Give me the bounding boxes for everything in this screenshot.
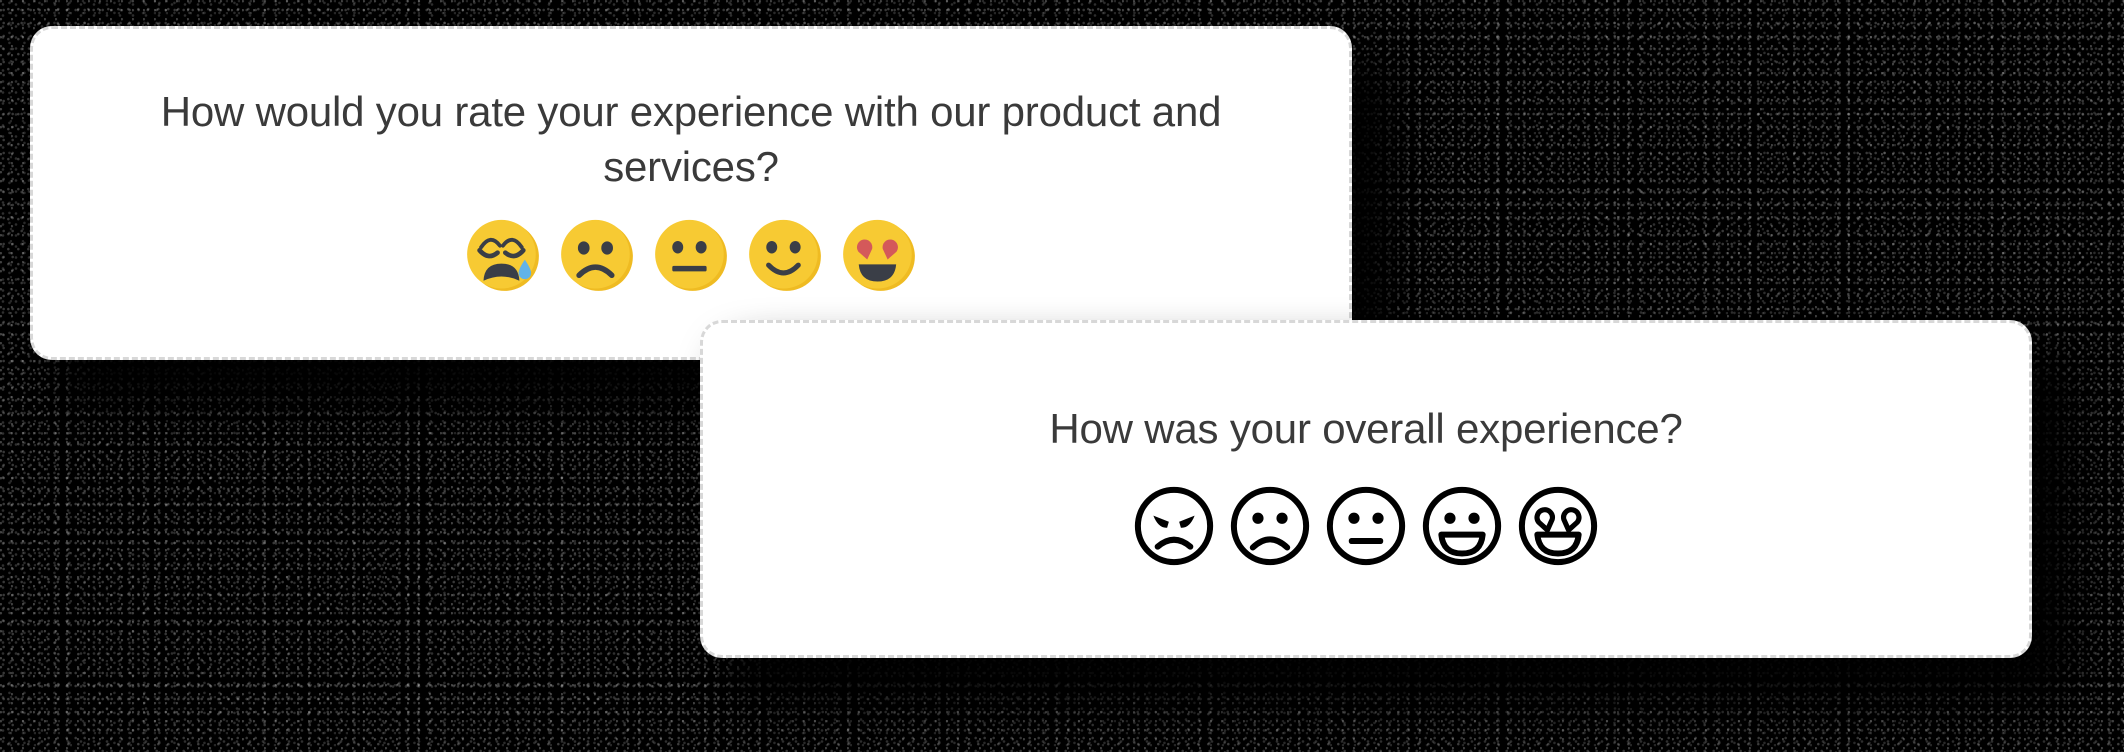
screenshot-canvas: How would you rate your experience with … [0, 0, 2124, 752]
emoji-rating-scale [1131, 483, 1601, 569]
rating-card-overall-experience: How was your overall experience? [700, 320, 2032, 658]
rating-card-product-services: How would you rate your experience with … [30, 26, 1352, 360]
heart-eyes-face-icon[interactable] [840, 216, 918, 294]
sad-face-icon[interactable] [1227, 483, 1313, 569]
page-title: How would you rate your experience with … [143, 84, 1239, 195]
angry-face-icon[interactable] [1131, 483, 1217, 569]
page-title: How was your overall experience? [793, 401, 1939, 456]
happy-face-icon[interactable] [1419, 483, 1505, 569]
crying-face-icon[interactable] [464, 216, 542, 294]
frowning-face-icon[interactable] [558, 216, 636, 294]
slightly-smiling-face-icon[interactable] [746, 216, 824, 294]
emoji-rating-scale [464, 216, 918, 294]
neutral-face-icon[interactable] [1323, 483, 1409, 569]
heart-eyes-face-icon[interactable] [1515, 483, 1601, 569]
neutral-face-icon[interactable] [652, 216, 730, 294]
